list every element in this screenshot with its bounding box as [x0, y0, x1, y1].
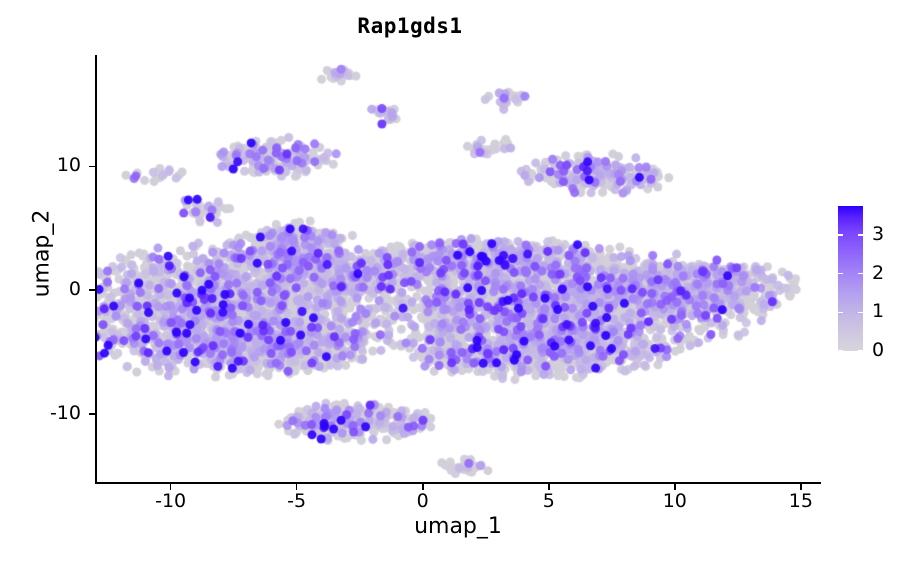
colorbar-tick-label: 0: [872, 339, 884, 361]
x-tick-label: -10: [141, 490, 201, 512]
colorbar-tick-label: 1: [872, 300, 884, 322]
colorbar-tick-label: 3: [872, 223, 884, 245]
x-tick-label: 15: [771, 490, 831, 512]
colorbar-tick-mark: [858, 234, 863, 236]
colorbar-tick-mark: [838, 312, 843, 314]
colorbar-tick-mark: [858, 273, 863, 275]
scatter-plot-canvas: [95, 55, 821, 483]
y-axis-spine: [95, 55, 97, 484]
colorbar-gradient: [838, 206, 863, 351]
x-axis-label: umap_1: [95, 514, 821, 539]
y-axis-label: umap_2: [30, 134, 55, 374]
y-tick-mark: [89, 413, 95, 415]
x-tick-label: 0: [393, 490, 453, 512]
y-tick-mark: [89, 166, 95, 168]
colorbar-tick-mark: [838, 234, 843, 236]
figure-root: Rap1gds1 -10-5051015 100-10 umap_1 umap_…: [0, 0, 911, 562]
x-axis-spine: [95, 482, 821, 484]
colorbar-tick-mark: [838, 273, 843, 275]
x-tick-label: 10: [645, 490, 705, 512]
colorbar-tick-label: 2: [872, 262, 884, 284]
colorbar-tick-mark: [858, 312, 863, 314]
y-tick-mark: [89, 289, 95, 291]
x-tick-label: 5: [519, 490, 579, 512]
x-tick-label: -5: [267, 490, 327, 512]
page-title: Rap1gds1: [0, 14, 820, 38]
plot-area: [95, 55, 821, 483]
colorbar-tick-mark: [838, 350, 843, 352]
colorbar-tick-mark: [858, 350, 863, 352]
y-tick-label: -10: [0, 402, 81, 424]
